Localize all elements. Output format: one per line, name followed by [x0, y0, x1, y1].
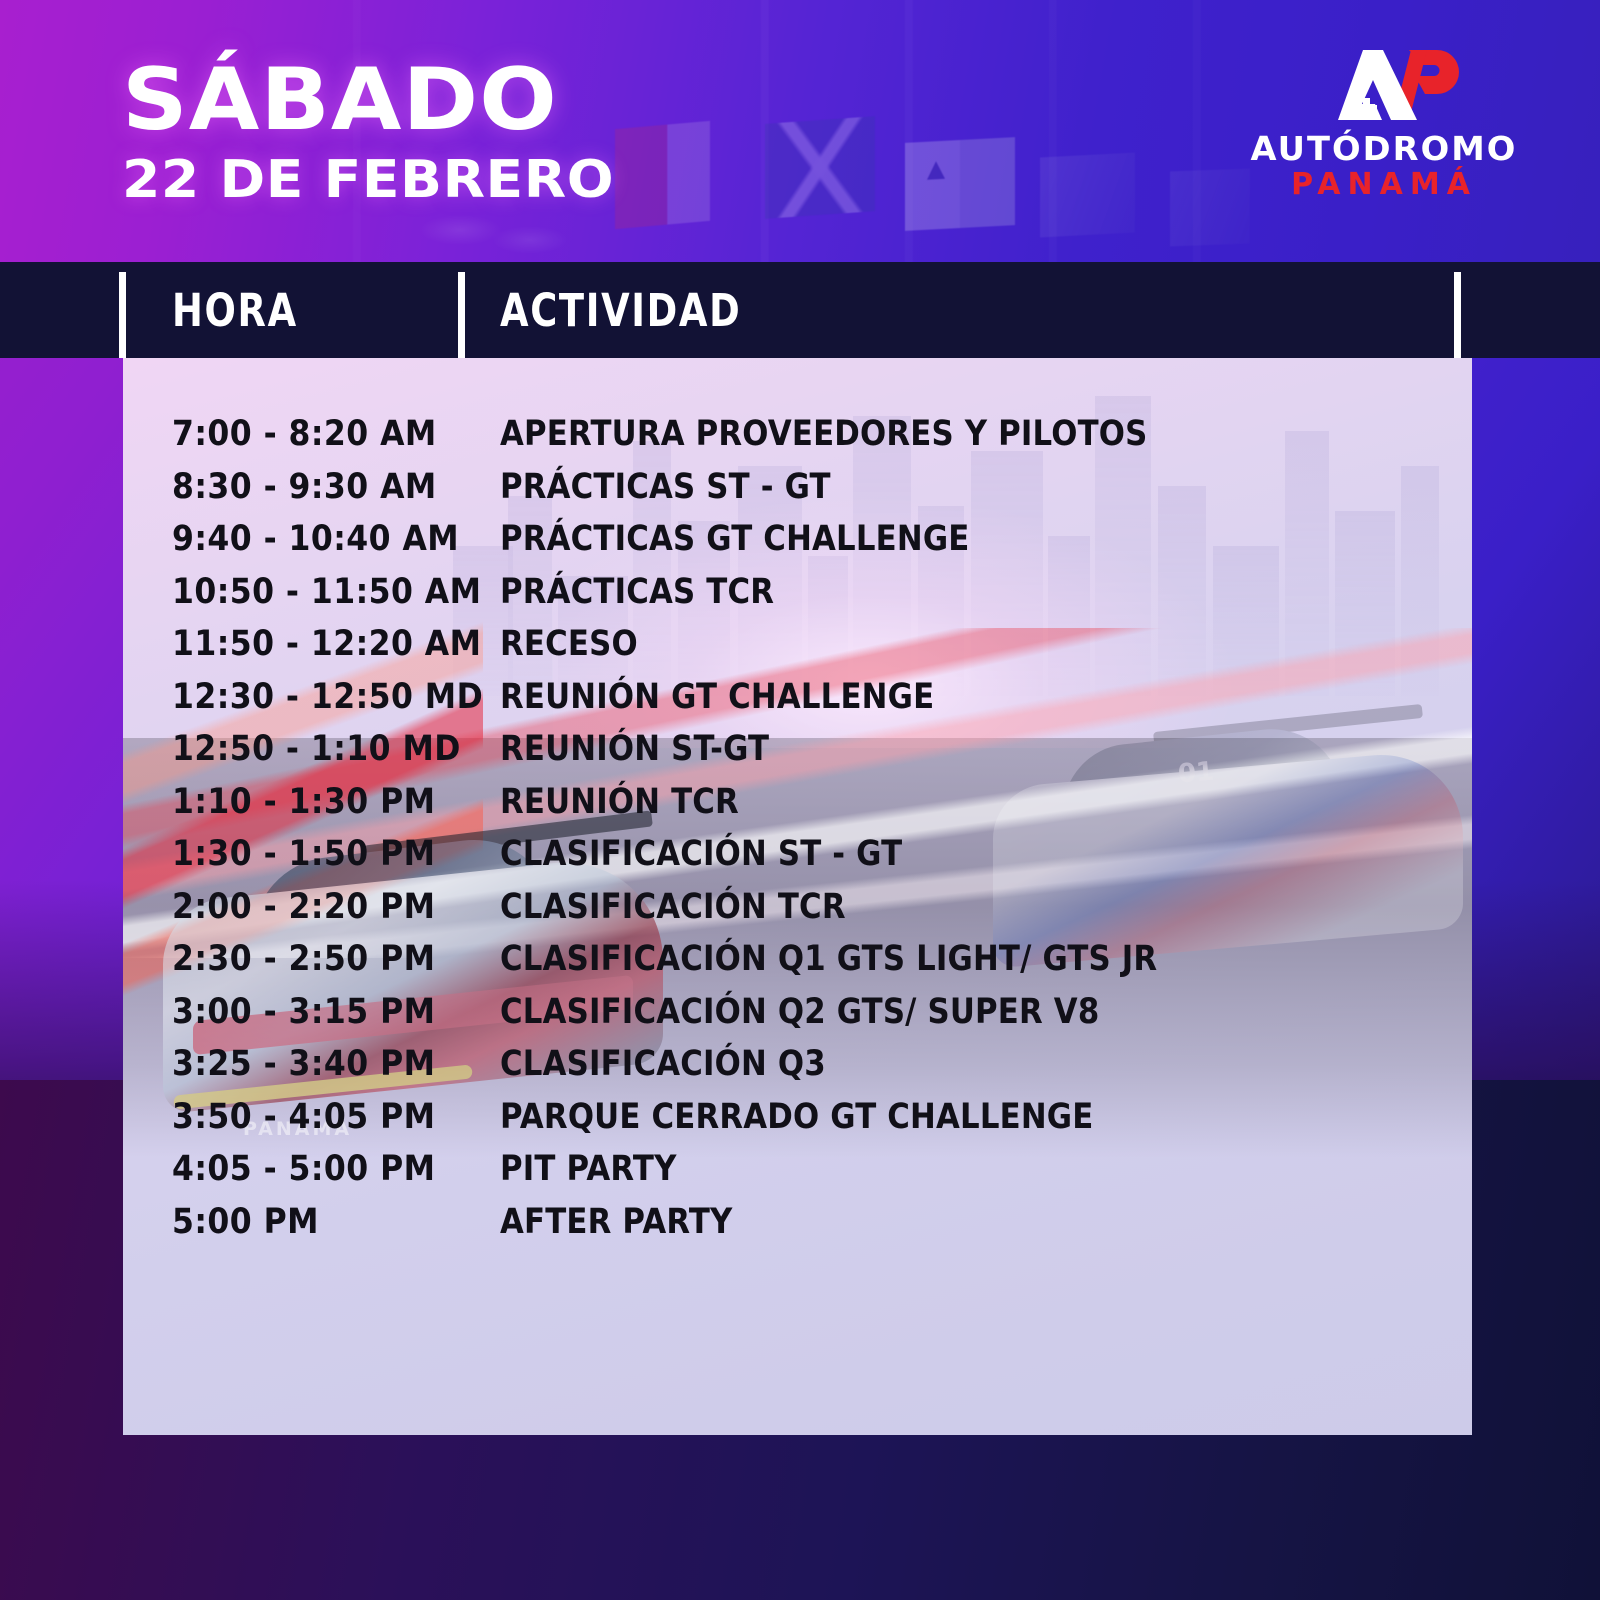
- ap-monogram-icon: [1291, 46, 1477, 124]
- logo-wordmark: AUTÓDROMO: [1231, 132, 1537, 165]
- row-time: 1:30 - 1:50 PM: [172, 834, 435, 874]
- row-activity: PRÁCTICAS GT CHALLENGE: [500, 519, 970, 559]
- table-row: 8:30 - 9:30 AMPRÁCTICAS ST - GT: [123, 461, 1472, 513]
- row-activity: CLASIFICACIÓN TCR: [500, 887, 846, 927]
- table-row: 2:00 - 2:20 PMCLASIFICACIÓN TCR: [123, 881, 1472, 933]
- logo-subwordmark: PANAMÁ: [1234, 168, 1534, 203]
- row-time: 4:05 - 5:00 PM: [172, 1149, 435, 1189]
- row-time: 2:30 - 2:50 PM: [172, 939, 435, 979]
- row-time: 3:25 - 3:40 PM: [172, 1044, 435, 1084]
- table-row: 3:50 - 4:05 PMPARQUE CERRADO GT CHALLENG…: [123, 1091, 1472, 1143]
- page-title-date: 22 DE FEBRERO: [122, 154, 614, 206]
- row-activity: REUNIÓN GT CHALLENGE: [500, 677, 934, 717]
- row-activity: APERTURA PROVEEDORES Y PILOTOS: [500, 414, 1147, 454]
- table-row: 3:00 - 3:15 PMCLASIFICACIÓN Q2 GTS/ SUPE…: [123, 986, 1472, 1038]
- table-row: 1:30 - 1:50 PMCLASIFICACIÓN ST - GT: [123, 828, 1472, 880]
- row-time: 1:10 - 1:30 PM: [172, 782, 435, 822]
- row-time: 5:00 PM: [172, 1202, 319, 1242]
- table-row: 4:05 - 5:00 PMPIT PARTY: [123, 1143, 1472, 1195]
- row-activity: PRÁCTICAS ST - GT: [500, 467, 831, 507]
- header-divider-right: [1454, 272, 1461, 358]
- row-time: 11:50 - 12:20 AM: [172, 624, 481, 664]
- row-activity: REUNIÓN TCR: [500, 782, 739, 822]
- row-activity: PARQUE CERRADO GT CHALLENGE: [500, 1097, 1093, 1137]
- table-row: 5:00 PMAFTER PARTY: [123, 1196, 1472, 1248]
- table-row: 3:25 - 3:40 PMCLASIFICACIÓN Q3: [123, 1038, 1472, 1090]
- flag-generic-blue-icon: [1040, 153, 1135, 238]
- row-time: 9:40 - 10:40 AM: [172, 519, 459, 559]
- row-time: 2:00 - 2:20 PM: [172, 887, 435, 927]
- column-header-hora: HORA: [172, 284, 298, 337]
- flag-generic-red-icon: [615, 121, 710, 229]
- row-activity: PRÁCTICAS TCR: [500, 572, 774, 612]
- schedule-panel: 01 PANAMÁ 7:00 - 8:20 AMAPERTURA PROVEED…: [123, 358, 1472, 1435]
- table-row: 12:50 - 1:10 MDREUNIÓN ST-GT: [123, 723, 1472, 775]
- autodromo-panama-logo: AUTÓDROMO PANAMÁ: [1234, 46, 1534, 203]
- row-time: 12:30 - 12:50 MD: [172, 677, 483, 717]
- row-time: 3:50 - 4:05 PM: [172, 1097, 435, 1137]
- row-time: 3:00 - 3:15 PM: [172, 992, 435, 1032]
- table-row: 12:30 - 12:50 MDREUNIÓN GT CHALLENGE: [123, 671, 1472, 723]
- title-block: SÁBADO 22 DE FEBRERO: [122, 60, 586, 206]
- row-activity: CLASIFICACIÓN ST - GT: [500, 834, 902, 874]
- flag-scotland-icon: [765, 116, 875, 219]
- row-activity: RECESO: [500, 624, 638, 664]
- row-time: 8:30 - 9:30 AM: [172, 467, 437, 507]
- header-divider-middle: [458, 272, 465, 358]
- schedule-rows: 7:00 - 8:20 AMAPERTURA PROVEEDORES Y PIL…: [123, 358, 1472, 1435]
- row-activity: CLASIFICACIÓN Q2 GTS/ SUPER V8: [500, 992, 1099, 1032]
- table-row: 10:50 - 11:50 AMPRÁCTICAS TCR: [123, 566, 1472, 618]
- row-activity: CLASIFICACIÓN Q1 GTS LIGHT/ GTS JR: [500, 939, 1157, 979]
- poster-header: SÁBADO 22 DE FEBRERO AUTÓDROMO PANAMÁ: [0, 0, 1600, 262]
- table-row: 2:30 - 2:50 PMCLASIFICACIÓN Q1 GTS LIGHT…: [123, 933, 1472, 985]
- row-time: 10:50 - 11:50 AM: [172, 572, 481, 612]
- row-activity: CLASIFICACIÓN Q3: [500, 1044, 826, 1084]
- header-divider-left: [119, 272, 126, 358]
- table-header-band: HORA ACTIVIDAD: [0, 262, 1600, 358]
- row-time: 7:00 - 8:20 AM: [172, 414, 437, 454]
- row-activity: REUNIÓN ST-GT: [500, 729, 769, 769]
- column-header-actividad: ACTIVIDAD: [500, 284, 741, 337]
- flag-panama-icon: [905, 137, 1015, 231]
- schedule-poster: SÁBADO 22 DE FEBRERO AUTÓDROMO PANAMÁ: [0, 0, 1600, 1600]
- table-row: 1:10 - 1:30 PMREUNIÓN TCR: [123, 776, 1472, 828]
- table-row: 11:50 - 12:20 AMRECESO: [123, 618, 1472, 670]
- row-time: 12:50 - 1:10 MD: [172, 729, 461, 769]
- page-title-day: SÁBADO: [122, 60, 614, 142]
- table-row: 9:40 - 10:40 AMPRÁCTICAS GT CHALLENGE: [123, 513, 1472, 565]
- table-row: 7:00 - 8:20 AMAPERTURA PROVEEDORES Y PIL…: [123, 408, 1472, 460]
- row-activity: AFTER PARTY: [500, 1202, 733, 1242]
- row-activity: PIT PARTY: [500, 1149, 677, 1189]
